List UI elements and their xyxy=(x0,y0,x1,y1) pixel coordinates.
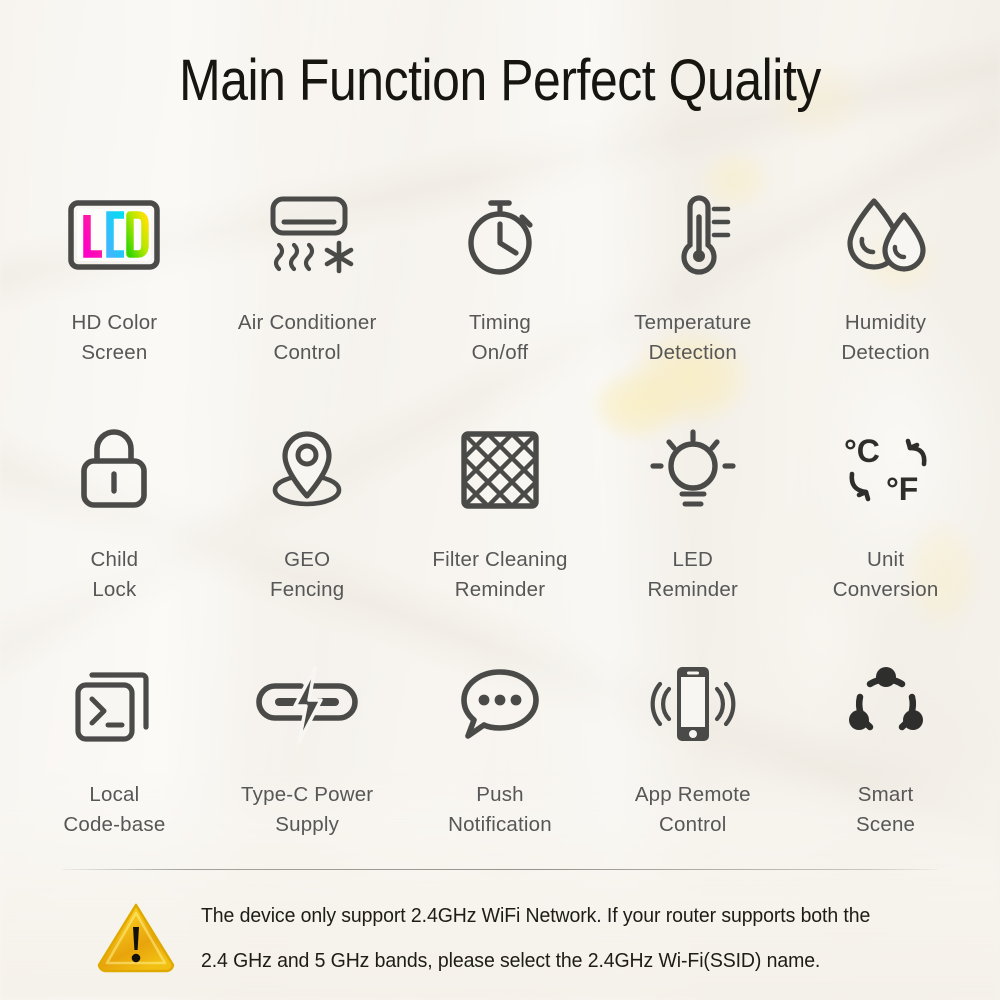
feature-item-filter-cleaning-reminder: Filter Cleaning Reminder xyxy=(404,415,597,650)
feature-item-type-c-power-supply: Type-C Power Supply xyxy=(211,650,404,885)
feature-label: App Remote Control xyxy=(635,780,751,840)
lightbulb-icon xyxy=(638,415,748,525)
feature-label: Local Code-base xyxy=(63,780,165,840)
celsius-fahrenheit-icon: °C °F xyxy=(831,415,941,525)
feature-item-timing-on-off: Timing On/off xyxy=(404,180,597,415)
led-screen-icon xyxy=(59,180,169,290)
wifi-warning-notice: The device only support 2.4GHz WiFi Netw… xyxy=(95,893,925,983)
feature-label: Unit Conversion xyxy=(833,545,939,605)
feature-item-app-remote-control: App Remote Control xyxy=(596,650,789,885)
speech-bubble-icon xyxy=(445,650,555,760)
feature-label: Push Notification xyxy=(448,780,552,840)
feature-label: Humidity Detection xyxy=(841,308,929,368)
feature-item-humidity-detection: Humidity Detection xyxy=(789,180,982,415)
unit-from-label: °C xyxy=(844,433,880,469)
footer-divider xyxy=(62,869,938,870)
smartphone-signal-icon xyxy=(638,650,748,760)
feature-label: Air Conditioner Control xyxy=(238,308,377,368)
feature-label: Temperature Detection xyxy=(634,308,751,368)
warning-text: The device only support 2.4GHz WiFi Netw… xyxy=(201,893,889,983)
warning-triangle-icon xyxy=(95,901,177,973)
feature-label: Smart Scene xyxy=(856,780,915,840)
thermometer-icon xyxy=(638,180,748,290)
feature-label: HD Color Screen xyxy=(71,308,157,368)
water-droplets-icon xyxy=(831,180,941,290)
terminal-window-icon xyxy=(59,650,169,760)
map-pin-icon xyxy=(252,415,362,525)
air-conditioner-icon xyxy=(252,180,362,290)
filter-mesh-icon xyxy=(445,415,555,525)
stopwatch-icon xyxy=(445,180,555,290)
feature-item-push-notification: Push Notification xyxy=(404,650,597,885)
unit-to-label: °F xyxy=(886,471,918,507)
page-title: Main Function Perfect Quality xyxy=(70,52,930,110)
feature-label: LED Reminder xyxy=(648,545,738,605)
share-nodes-icon xyxy=(831,650,941,760)
feature-item-geo-fencing: GEO Fencing xyxy=(211,415,404,650)
feature-item-child-lock: Child Lock xyxy=(18,415,211,650)
feature-item-smart-scene: Smart Scene xyxy=(789,650,982,885)
feature-item-air-conditioner-control: Air Conditioner Control xyxy=(211,180,404,415)
feature-grid: HD Color Screen xyxy=(18,180,982,885)
feature-item-local-code-base: Local Code-base xyxy=(18,650,211,885)
feature-label: Type-C Power Supply xyxy=(241,780,373,840)
feature-item-led-reminder: LED Reminder xyxy=(596,415,789,650)
padlock-icon xyxy=(59,415,169,525)
warning-text-line-1: The device only support 2.4GHz WiFi Netw… xyxy=(201,893,889,938)
usb-c-bolt-icon xyxy=(252,650,362,760)
feature-item-hd-color-screen: HD Color Screen xyxy=(18,180,211,415)
product-feature-infographic: Main Function Perfect Quality xyxy=(0,0,1000,1000)
feature-label: GEO Fencing xyxy=(270,545,344,605)
warning-text-line-2: 2.4 GHz and 5 GHz bands, please select t… xyxy=(201,938,889,983)
feature-item-unit-conversion: °C °F Unit Conversion xyxy=(789,415,982,650)
feature-label: Child Lock xyxy=(91,545,139,605)
feature-label: Filter Cleaning Reminder xyxy=(432,545,567,605)
feature-label: Timing On/off xyxy=(469,308,531,368)
feature-item-temperature-detection: Temperature Detection xyxy=(596,180,789,415)
